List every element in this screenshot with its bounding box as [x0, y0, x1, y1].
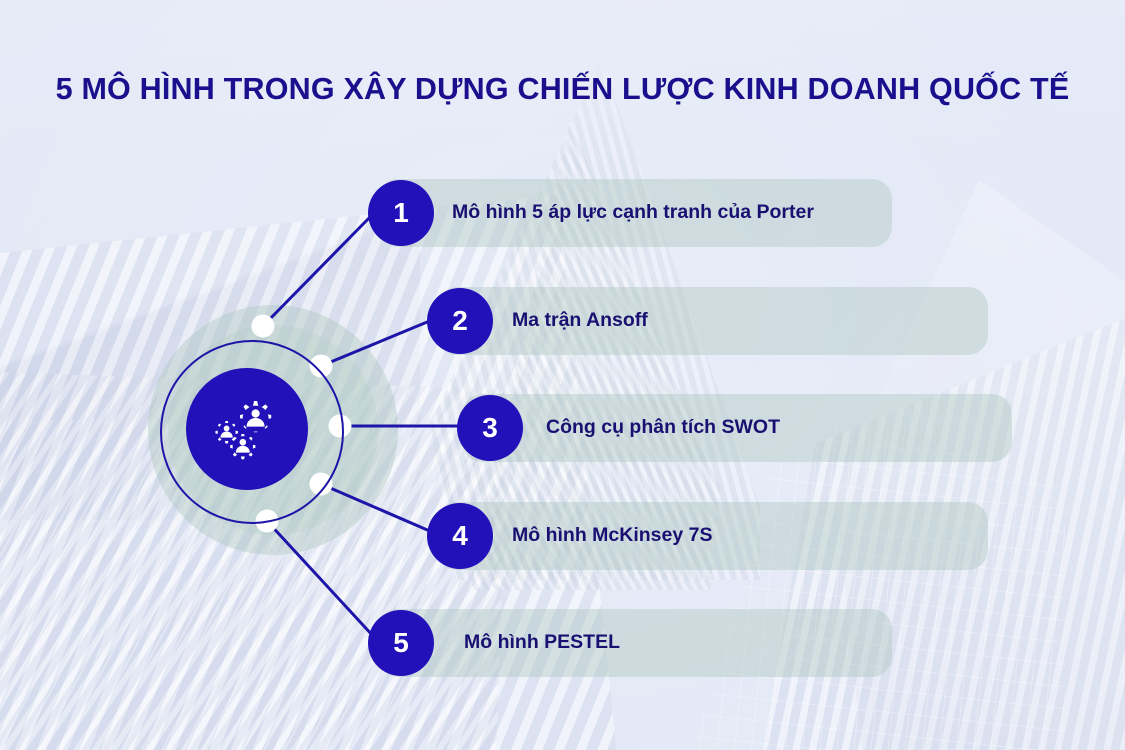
item-number-3: 3 [457, 395, 523, 461]
connector-line-1 [263, 215, 372, 326]
connector-line-4 [321, 484, 432, 532]
hub-core [186, 368, 308, 490]
item-label-1: Mô hình 5 áp lực cạnh tranh của Porter [452, 203, 814, 223]
item-label-2: Ma trận Ansoff [512, 311, 648, 331]
item-number-5: 5 [368, 610, 434, 676]
infographic-canvas: 5 MÔ HÌNH TRONG XÂY DỰNG CHIẾN LƯỢC KINH… [0, 0, 1125, 750]
connector-line-2 [321, 320, 432, 366]
item-label-5: Mô hình PESTEL [464, 633, 620, 653]
connector-line-5 [267, 521, 374, 637]
item-number-4: 4 [427, 503, 493, 569]
item-number-1: 1 [368, 180, 434, 246]
node-dot-1 [252, 315, 275, 338]
item-label-3: Công cụ phân tích SWOT [546, 418, 780, 438]
item-bar-5 [378, 609, 892, 677]
gears-with-people-icon [208, 393, 286, 465]
item-label-4: Mô hình McKinsey 7S [512, 526, 712, 546]
item-number-2: 2 [427, 288, 493, 354]
